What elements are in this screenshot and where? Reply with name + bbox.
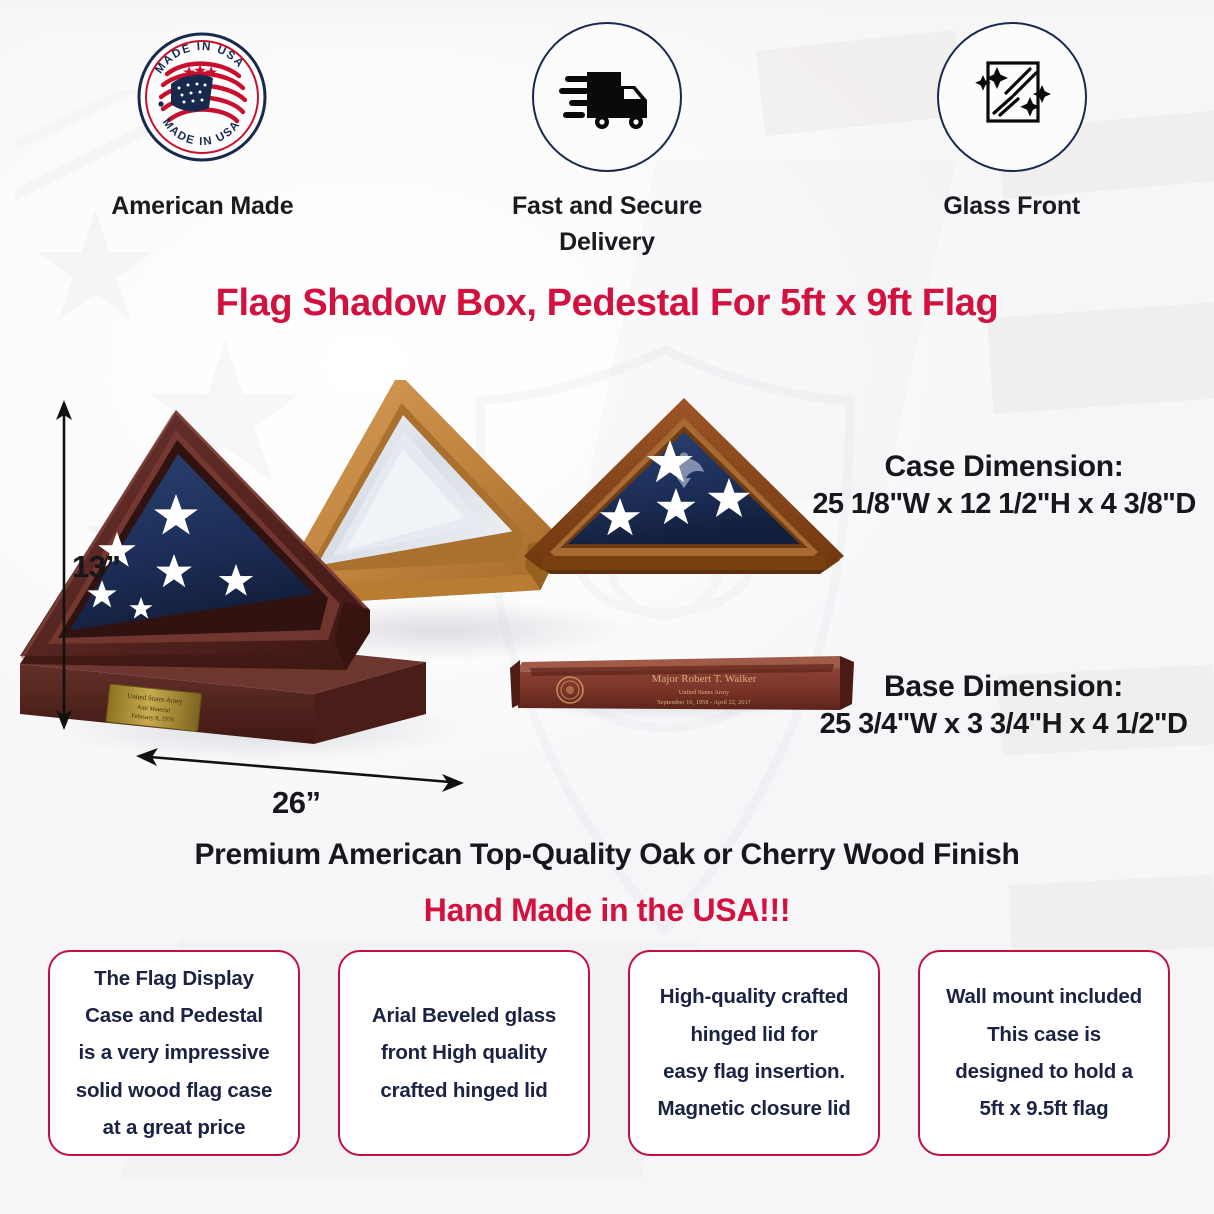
finish-tagline: Premium American Top-Quality Oak or Cher… xyxy=(0,838,1214,872)
case-dimension-callout: Case Dimension: 25 1/8"W x 12 1/2"H x 4 … xyxy=(795,448,1213,523)
product-illustration: United States Army Anti Material Februar… xyxy=(0,380,900,800)
feature-card: Arial Beveled glass front High quality c… xyxy=(338,950,590,1156)
page-title: Flag Shadow Box, Pedestal For 5ft x 9ft … xyxy=(0,282,1214,325)
feature-badge-row: MADE IN USA MADE IN USA American Made xyxy=(0,22,1214,261)
badge-label: Fast and Secure Delivery xyxy=(512,188,702,261)
base-dimension-callout: Base Dimension: 25 3/4"W x 3 3/4"H x 4 1… xyxy=(793,668,1214,743)
base-dimension-value: 25 3/4"W x 3 3/4"H x 4 1/2"D xyxy=(793,706,1214,744)
plaque-branch: United States Army xyxy=(679,689,730,696)
handmade-tagline: Hand Made in the USA!!! xyxy=(0,892,1214,929)
feature-card-text: High-quality crafted hinged lid for easy… xyxy=(657,978,850,1127)
feature-card-text: Wall mount included This case is designe… xyxy=(946,978,1142,1127)
feature-card: High-quality crafted hinged lid for easy… xyxy=(628,950,880,1156)
base-dimension-title: Base Dimension: xyxy=(793,668,1214,706)
feature-card-row: The Flag Display Case and Pedestal is a … xyxy=(48,950,1170,1156)
case-dimension-value: 25 1/8"W x 12 1/2"H x 4 3/8"D xyxy=(795,486,1213,524)
badge-fast-delivery: Fast and Secure Delivery xyxy=(405,22,810,261)
fast-delivery-truck-icon xyxy=(532,22,682,172)
feature-card: The Flag Display Case and Pedestal is a … xyxy=(48,950,300,1156)
badge-label: American Made xyxy=(111,188,293,224)
feature-card-text: Arial Beveled glass front High quality c… xyxy=(372,997,556,1109)
made-in-usa-seal-icon: MADE IN USA MADE IN USA xyxy=(127,22,277,172)
plaque-name: Major Robert T. Walker xyxy=(652,673,757,685)
badge-american-made: MADE IN USA MADE IN USA American Made xyxy=(0,22,405,261)
infographic-page: MADE IN USA MADE IN USA American Made xyxy=(0,0,1214,1214)
feature-card: Wall mount included This case is designe… xyxy=(918,950,1170,1156)
height-measure-label: 13” xyxy=(72,549,120,585)
feature-card-text: The Flag Display Case and Pedestal is a … xyxy=(76,960,273,1146)
badge-glass-front: Glass Front xyxy=(809,22,1214,261)
plaque-dates: September 10, 1958 - April 22, 2017 xyxy=(657,699,752,706)
glass-pane-sparkle-icon xyxy=(937,22,1087,172)
case-dimension-title: Case Dimension: xyxy=(795,448,1213,486)
width-measure-label: 26” xyxy=(272,785,320,821)
badge-label: Glass Front xyxy=(943,188,1080,224)
